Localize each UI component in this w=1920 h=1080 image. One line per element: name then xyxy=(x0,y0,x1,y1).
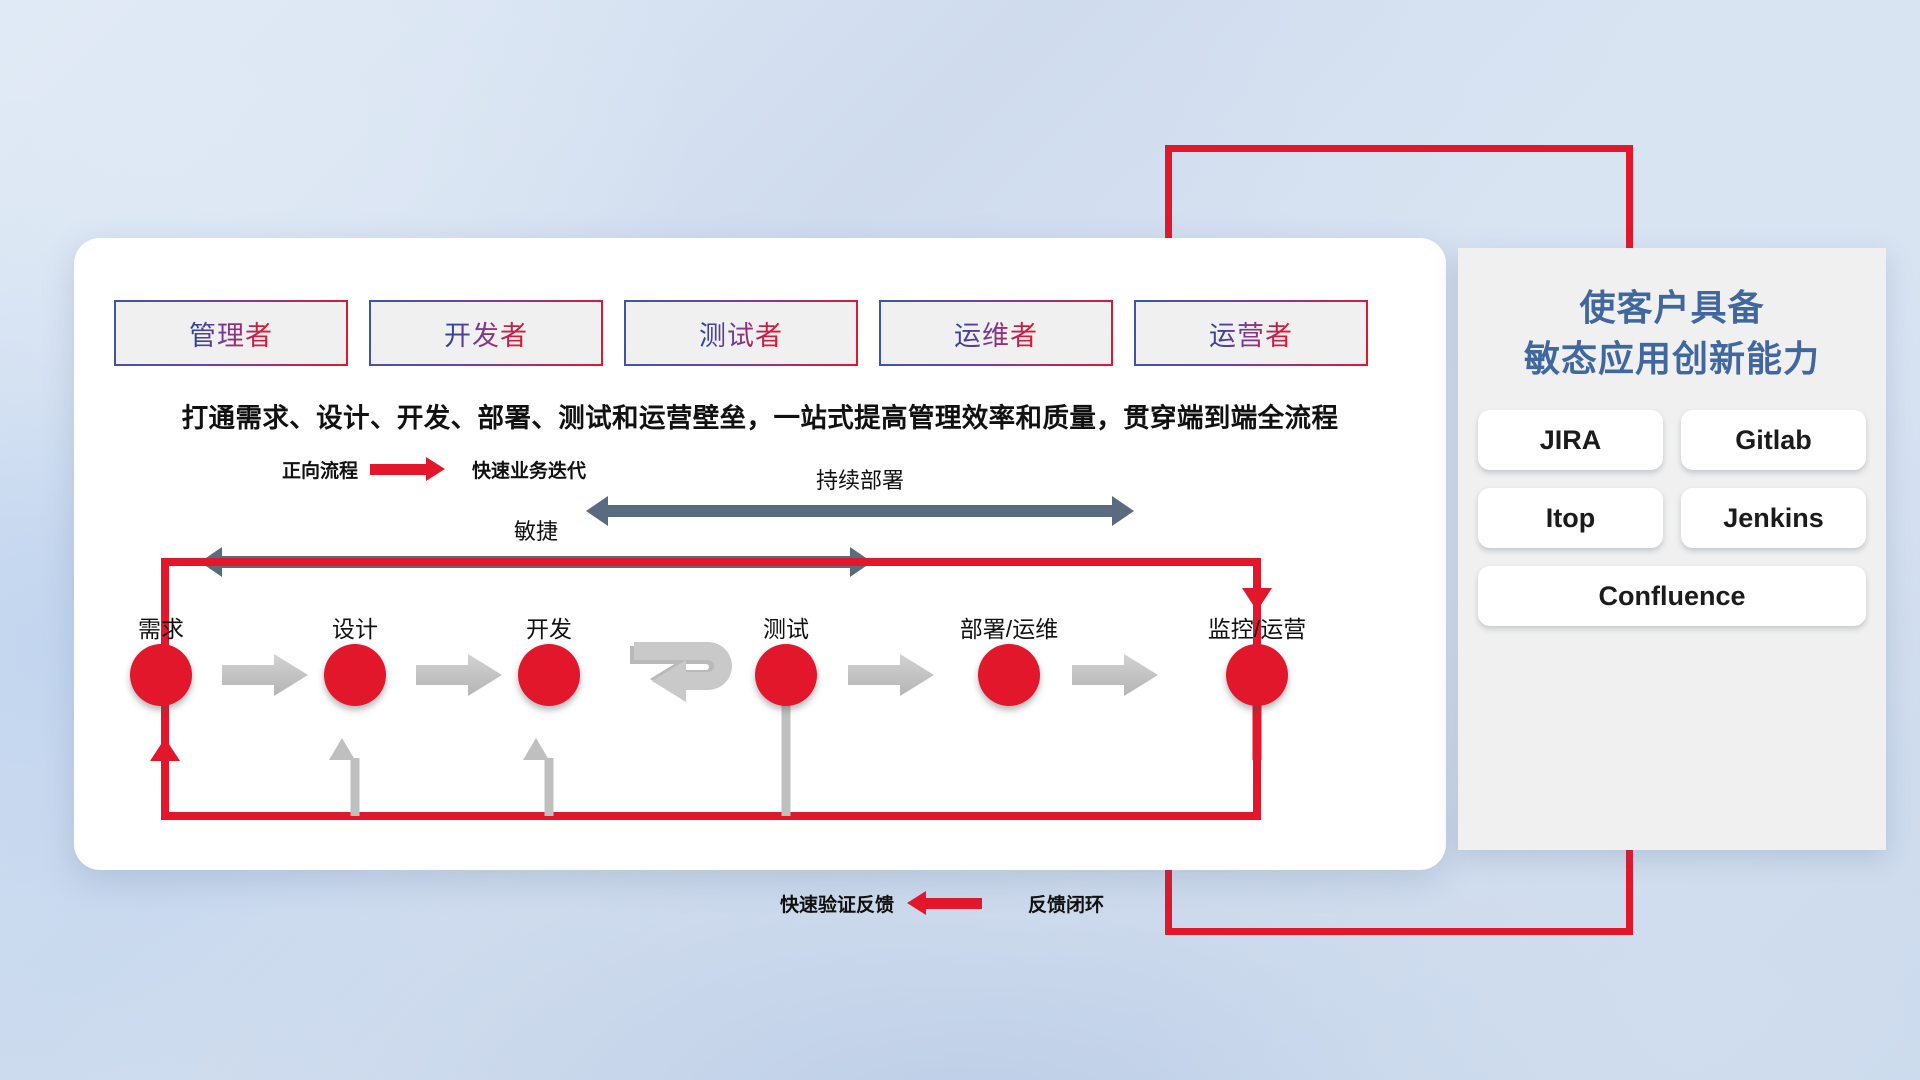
role-box-manager[interactable]: 管理者 xyxy=(114,300,348,366)
feedback-flow-left-label: 快速验证反馈 xyxy=(780,890,894,917)
red-right-arrow-icon xyxy=(370,464,426,475)
chevron-design-develop xyxy=(414,652,504,698)
role-box-list: 管理者 开发者 测试者 运维者 运营者 xyxy=(114,300,1368,366)
tool-chip-jira[interactable]: JIRA xyxy=(1478,410,1663,470)
capability-panel: 使客户具备 敏态应用创新能力 JIRA Gitlab Itop Jenkins … xyxy=(1458,248,1886,850)
role-box-operator[interactable]: 运营者 xyxy=(1134,300,1368,366)
panel-title-line1: 使客户具备 xyxy=(1458,282,1886,333)
role-box-ops[interactable]: 运维者 xyxy=(879,300,1113,366)
stage-dot-test[interactable] xyxy=(755,644,817,706)
panel-title: 使客户具备 敏态应用创新能力 xyxy=(1458,248,1886,384)
red-left-arrow-icon xyxy=(926,898,982,909)
tool-chip-itop[interactable]: Itop xyxy=(1478,488,1663,548)
forward-flow-row: 正向流程 快速业务迭代 xyxy=(282,456,586,483)
loop-bottom-rail xyxy=(161,812,1261,820)
stage-dot-develop[interactable] xyxy=(518,644,580,706)
agile-label: 敏捷 xyxy=(216,514,856,546)
outer-frame-left-lower xyxy=(1165,866,1172,935)
loop-down-arrowhead-icon xyxy=(1242,588,1272,611)
diagram-canvas: 管理者 开发者 测试者 运维者 运营者 打通需求、设计、开发、部署、测试和运营壁… xyxy=(0,0,1920,1080)
stem-develop xyxy=(545,758,554,816)
stage-dot-deploy-ops[interactable] xyxy=(978,644,1040,706)
stage-dot-monitor-ops[interactable] xyxy=(1226,644,1288,706)
stage-label-deploy-ops: 部署/运维 xyxy=(960,610,1058,644)
tool-chip-confluence[interactable]: Confluence xyxy=(1478,566,1866,626)
main-card: 管理者 开发者 测试者 运维者 运营者 打通需求、设计、开发、部署、测试和运营壁… xyxy=(74,238,1446,870)
stage-dot-requirement[interactable] xyxy=(130,644,192,706)
stem-test xyxy=(782,700,791,816)
chevron-deploy-monitor xyxy=(1070,652,1160,698)
stage-label-monitor-ops: 监控/运营 xyxy=(1208,610,1306,644)
role-label: 运维者 xyxy=(954,314,1038,353)
chevron-test-deploy xyxy=(846,652,936,698)
chevron-requirement-design xyxy=(220,652,310,698)
role-label: 测试者 xyxy=(699,314,783,353)
stage-label-requirement: 需求 xyxy=(138,610,184,644)
forward-flow-left-label: 正向流程 xyxy=(282,456,358,483)
panel-title-line2: 敏态应用创新能力 xyxy=(1458,333,1886,384)
cycle-uturn-arrow-icon xyxy=(628,638,748,722)
feedback-flow-right-label: 反馈闭环 xyxy=(1028,890,1104,917)
continuous-deploy-label: 持续部署 xyxy=(604,463,1116,495)
role-label: 管理者 xyxy=(189,314,273,353)
tool-chip-gitlab[interactable]: Gitlab xyxy=(1681,410,1866,470)
role-label: 运营者 xyxy=(1209,314,1293,353)
stage-label-test: 测试 xyxy=(763,610,809,644)
stage-label-design: 设计 xyxy=(332,610,378,644)
stage-label-develop: 开发 xyxy=(526,610,572,644)
stem-monitor xyxy=(1253,700,1262,760)
forward-flow-right-label: 快速业务迭代 xyxy=(472,456,586,483)
role-label: 开发者 xyxy=(444,314,528,353)
role-box-developer[interactable]: 开发者 xyxy=(369,300,603,366)
outer-frame-bottom xyxy=(1165,928,1633,935)
feedback-flow-row: 快速验证反馈 反馈闭环 xyxy=(780,890,1104,917)
stem-design xyxy=(351,758,360,816)
outer-frame-top xyxy=(1165,145,1633,152)
headline-text: 打通需求、设计、开发、部署、测试和运营壁垒，一站式提高管理效率和质量，贯穿端到端… xyxy=(74,396,1446,435)
role-box-tester[interactable]: 测试者 xyxy=(624,300,858,366)
loop-up-stem xyxy=(161,758,169,816)
tool-chip-list: JIRA Gitlab Itop Jenkins Confluence xyxy=(1478,410,1866,626)
loop-top-rail xyxy=(161,558,1261,566)
stage-dot-design[interactable] xyxy=(324,644,386,706)
tool-chip-jenkins[interactable]: Jenkins xyxy=(1681,488,1866,548)
stem-design-arrowhead-icon xyxy=(329,738,355,760)
stem-develop-arrowhead-icon xyxy=(523,738,549,760)
